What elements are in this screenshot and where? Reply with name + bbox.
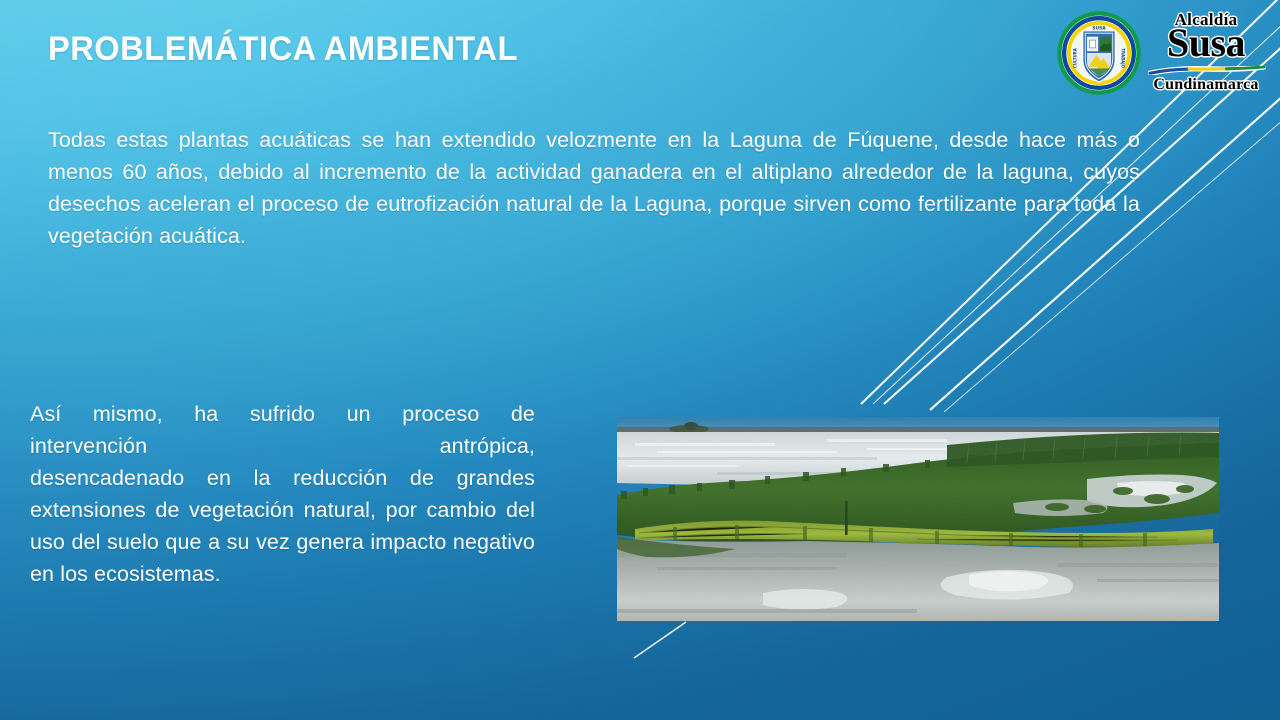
- municipal-seal-icon: SUSA CULTURA TRABAJO: [1056, 10, 1142, 96]
- paragraph-bottom-line-2: intervención antrópica,: [30, 430, 535, 462]
- logo-wordmark: Alcaldía Susa Cundinamarca: [1140, 8, 1272, 100]
- logo-alcaldia-susa: SUSA CULTURA TRABAJO Alcaldía Susa Cundi…: [1056, 4, 1272, 104]
- logo-swoosh-icon: [1148, 66, 1266, 75]
- paragraph-bottom-rest: desencadenado en la reducción de grandes…: [30, 462, 535, 590]
- svg-text:TRABAJO: TRABAJO: [1120, 48, 1125, 68]
- slide-root: PROBLEMÁTICA AMBIENTAL SUSA CULTURA: [0, 0, 1280, 720]
- logo-line-cundinamarca: Cundinamarca: [1140, 76, 1272, 94]
- paragraph-bottom-block: Así mismo, ha sufrido un proceso de inte…: [30, 398, 535, 590]
- paragraph-top-text: Todas estas plantas acuáticas se han ext…: [48, 124, 1140, 252]
- page-title: PROBLEMÁTICA AMBIENTAL: [48, 30, 518, 69]
- lagoon-photo: [617, 417, 1219, 621]
- paragraph-top-block: Todas estas plantas acuáticas se han ext…: [48, 124, 1140, 252]
- svg-text:SUSA: SUSA: [1092, 25, 1106, 31]
- paragraph-bottom-line-1: Así mismo, ha sufrido un proceso de: [30, 398, 535, 430]
- logo-line-susa: Susa: [1140, 23, 1272, 63]
- svg-text:CULTURA: CULTURA: [1073, 47, 1078, 68]
